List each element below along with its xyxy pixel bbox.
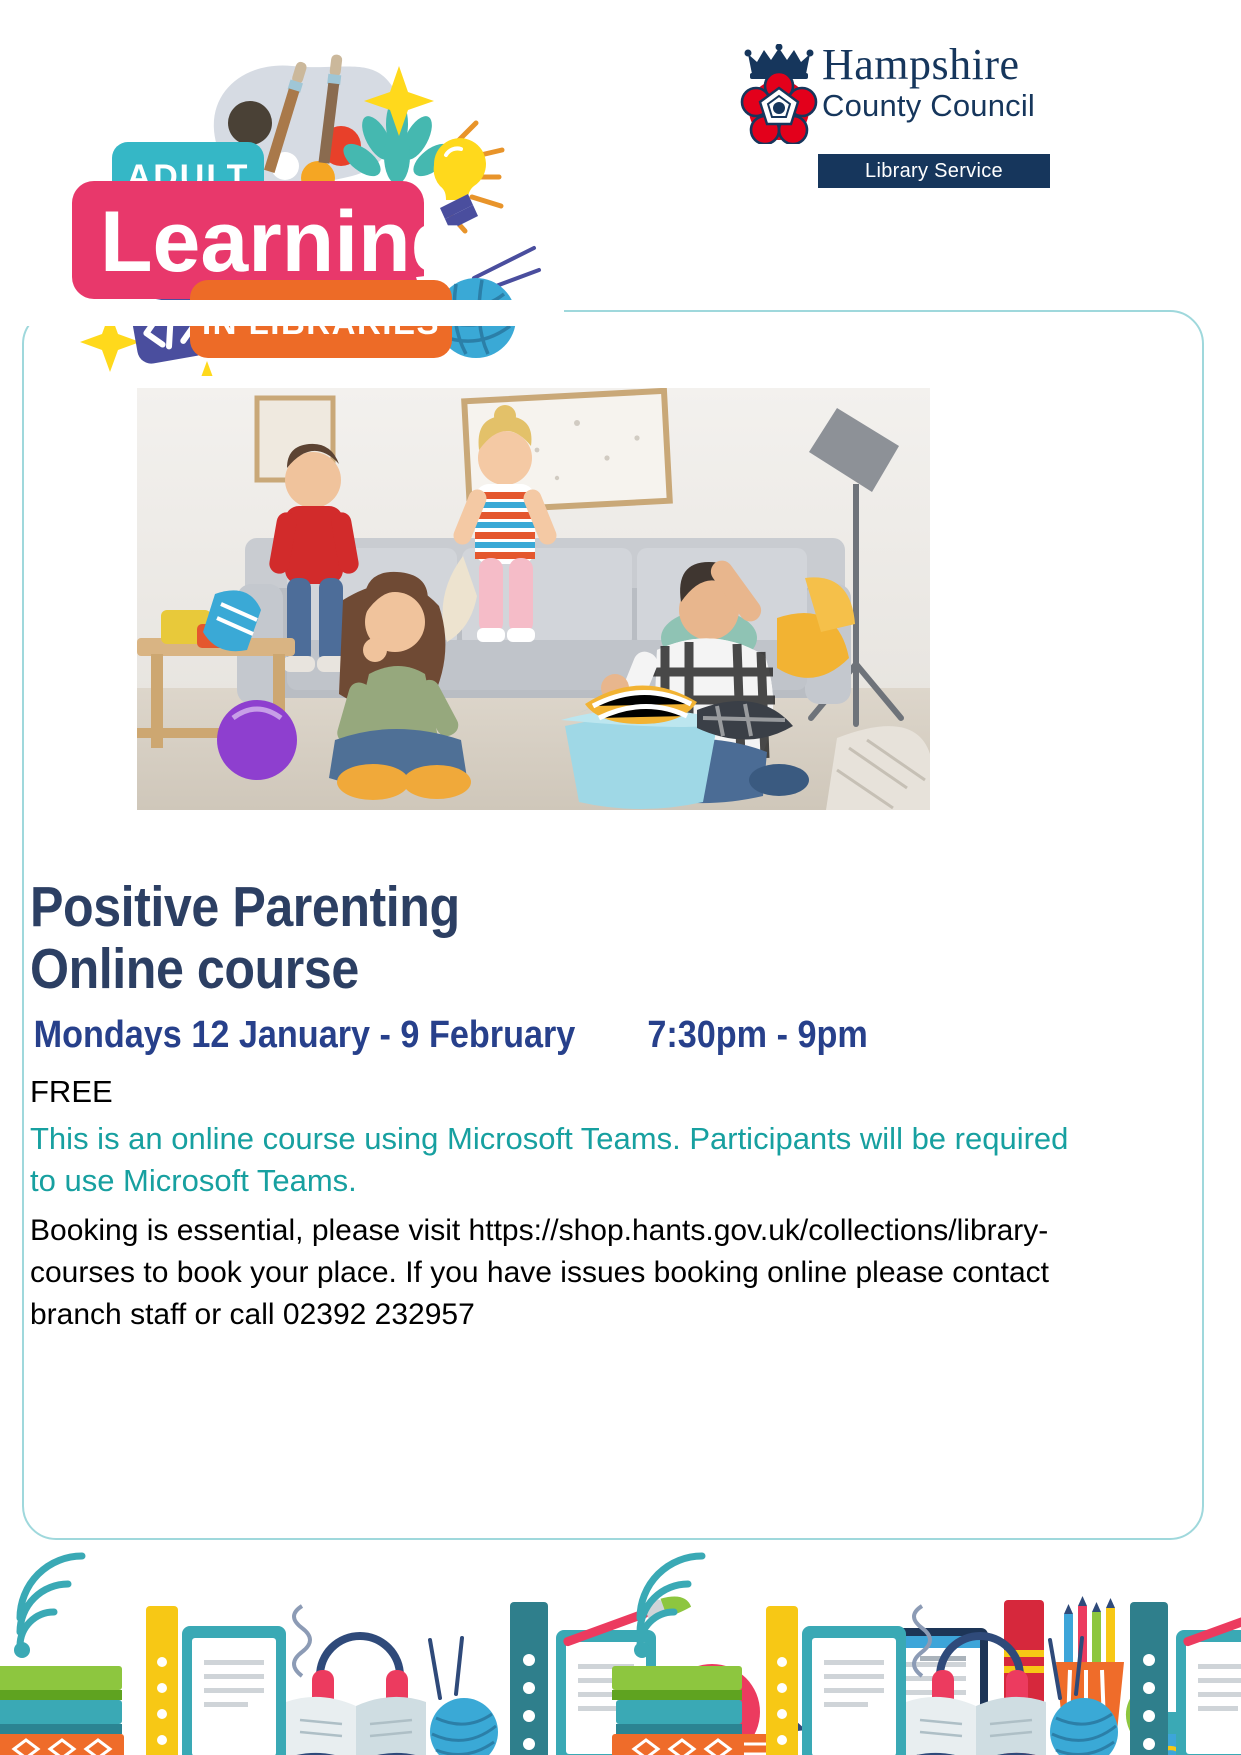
stacked-books-icon (0, 1666, 124, 1755)
course-schedule: Mondays 12 January - 9 February 7:30pm -… (30, 1012, 984, 1058)
open-book-icon (286, 1697, 426, 1755)
svg-text:Learning: Learning (100, 194, 463, 290)
library-icons-strip (0, 1480, 1241, 1755)
course-dates: Mondays 12 January - 9 February (30, 1012, 575, 1058)
course-details: Positive Parenting Online course Mondays… (30, 876, 1090, 1336)
hampshire-county-council-logo: Hampshire County Council Library Service (728, 36, 1068, 196)
wifi-icon (14, 1556, 82, 1658)
council-name-line2: County Council (822, 88, 1072, 124)
course-times: 7:30pm - 9pm (575, 1012, 867, 1058)
council-name-line1: Hampshire (822, 42, 1072, 88)
council-wordmark: Hampshire County Council (822, 42, 1072, 124)
yellow-binder-icon (146, 1606, 178, 1755)
frame-top-gap (24, 300, 564, 326)
tablet-document-icon (182, 1626, 286, 1755)
hampshire-rose-crown-icon (736, 44, 822, 144)
poster-page: ADULT Learning IN LIBRARIES ADULT Learni… (0, 0, 1241, 1755)
headphones-icon (294, 1606, 408, 1712)
library-service-badge: Library Service (818, 154, 1050, 188)
page-title-line1: Positive Parenting (30, 876, 963, 938)
teal-binder-icon (510, 1602, 548, 1755)
booking-note: Booking is essential, please visit https… (30, 1210, 1090, 1336)
page-title-line2: Online course (30, 938, 963, 1000)
course-price: FREE (30, 1072, 1090, 1112)
platform-note: This is an online course using Microsoft… (30, 1118, 1090, 1202)
course-hero-photo (137, 388, 930, 810)
knitting-yarn-icon (430, 1638, 498, 1755)
